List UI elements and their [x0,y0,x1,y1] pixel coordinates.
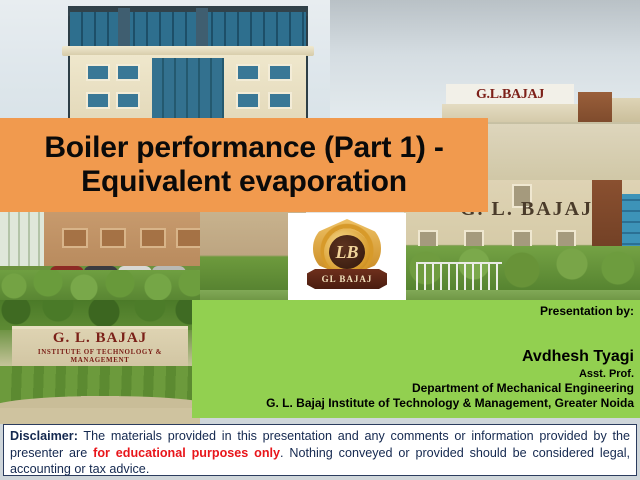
window [236,64,260,81]
monument-name-text: G. L. BAJAJ [18,330,182,347]
photo-academic-block [0,0,330,122]
window [176,228,200,248]
rooftop-sign-text: G.L.BAJAJ [476,87,544,103]
window [268,64,292,81]
window [236,92,260,109]
blue-glass-strip [622,194,640,254]
window [86,64,110,81]
photo-rooftop-sign-building: G.L.BAJAJ [330,0,640,122]
photo-campus-monument: G. L. BAJAJ INSTITUTE OF TECHNOLOGY & MA… [0,300,200,424]
presenter-role: Asst. Prof. [200,367,634,381]
window [62,228,88,248]
photo-campus-parking [0,206,200,314]
glass-facade-band [70,12,306,50]
window [116,64,140,81]
window [140,228,166,248]
window [116,92,140,109]
disclaimer-box: Disclaimer: The materials provided in th… [3,424,637,476]
institute-logo-panel: LB GL BAJAJ [288,213,406,301]
window [268,92,292,109]
presenter-institute: G. L. Bajaj Institute of Technology & Ma… [200,396,634,411]
presenter-name: Avdhesh Tyagi [200,348,634,367]
atrium-glass [152,58,224,122]
lawn [0,366,200,424]
gl-bajaj-logo-icon: LB GL BAJAJ [306,217,388,297]
brick-column [578,92,612,122]
disclaimer-heading: Disclaimer: [10,429,78,443]
window [86,92,110,109]
logo-monogram: LB [335,243,358,261]
slide-title-line-2: Equivalent evaporation [81,165,407,199]
logo-disc: LB [329,235,365,269]
presentation-by-label: Presentation by: [200,305,634,318]
glass-wing [0,210,44,266]
slide-title-line-1: Boiler performance (Part 1) - [44,131,443,165]
monument-subtitle-text: INSTITUTE OF TECHNOLOGY & MANAGEMENT [10,348,190,364]
disclaimer-highlight: for educational purposes only [93,446,280,460]
logo-ribbon-text: GL BAJAJ [322,274,373,284]
slide-title-banner: Boiler performance (Part 1) - Equivalent… [0,118,488,212]
side-wall [612,98,640,122]
logo-ribbon: GL BAJAJ [307,269,387,289]
presentation-title-slide: G.L.BAJAJ [0,0,640,480]
window [100,228,126,248]
presenter-department: Department of Mechanical Engineering [200,381,634,396]
presenter-details-box: Presentation by: Avdhesh Tyagi Asst. Pro… [192,300,640,418]
